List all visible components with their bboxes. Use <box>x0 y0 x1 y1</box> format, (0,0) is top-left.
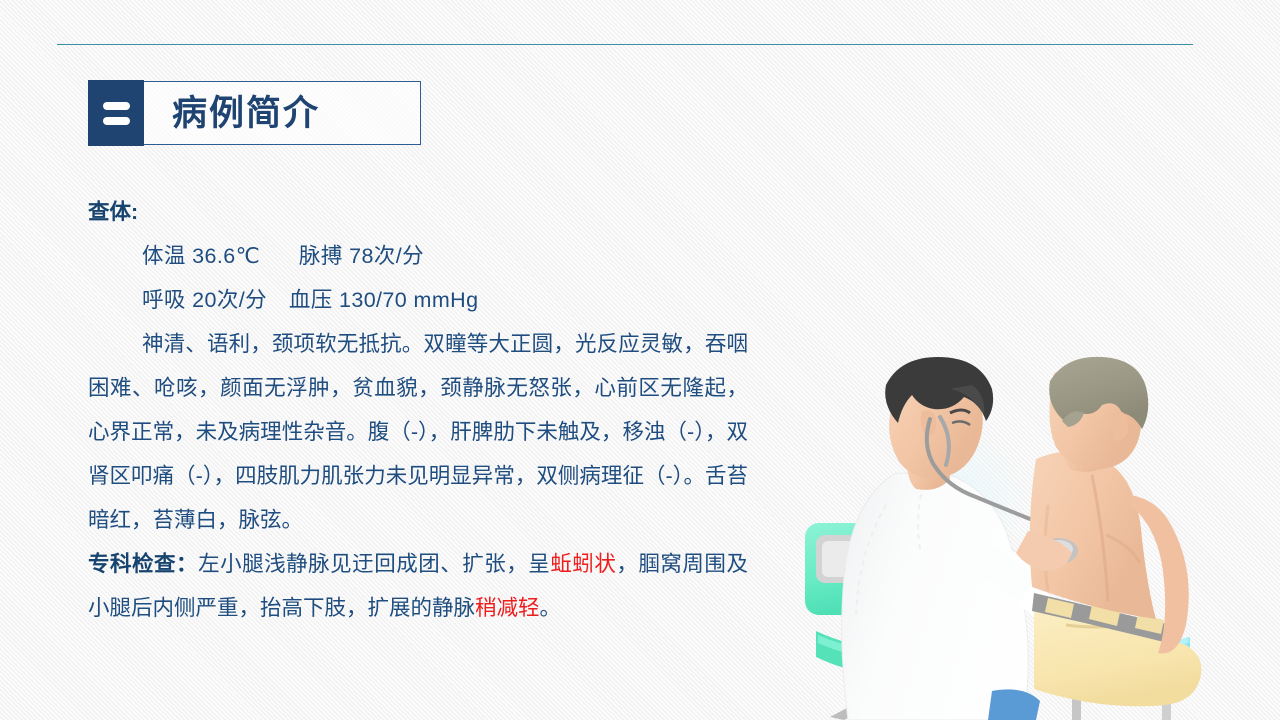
patient-figure <box>1030 357 1202 706</box>
blood-pressure-value: 血压 130/70 mmHg <box>289 288 479 312</box>
respiration-value: 呼吸 20次/分 <box>142 288 267 312</box>
specialist-exam-text-1: 左小腿浅静脉见迂回成团、扩张，呈 <box>198 552 550 576</box>
slide-title-badge: 病例简介 <box>88 80 421 146</box>
specialist-exam-paragraph: 专科检查：左小腿浅静脉见迂回成团、扩张，呈蚯蚓状，腘窝周围及小腿后内侧严重，抬高… <box>88 542 748 630</box>
section-title-box: 病例简介 <box>143 81 421 145</box>
slide-canvas: 病例简介 查体: 体温 36.6℃ 脉搏 78次/分 呼吸 20次/分 血压 1… <box>0 0 1280 720</box>
section-number-square <box>88 80 144 146</box>
specialist-exam-highlight-slightly-reduced: 稍减轻 <box>475 596 540 620</box>
section-number-glyph-icon <box>103 102 130 125</box>
doctor-auscultating-patient-illustration <box>800 355 1280 720</box>
specialist-exam-highlight-worm-shaped: 蚯蚓状 <box>550 552 616 576</box>
general-exam-paragraph: 神清、语利，颈项软无抵抗。双瞳等大正圆，光反应灵敏，吞咽困难、呛咳，颜面无浮肿，… <box>88 322 748 542</box>
page-title: 病例简介 <box>172 96 320 131</box>
vitals-line-1: 体温 36.6℃ 脉搏 78次/分 <box>88 234 748 278</box>
specialist-exam-text-3: 。 <box>540 596 562 620</box>
physical-exam-label: 查体: <box>88 190 748 234</box>
temperature-value: 体温 36.6℃ <box>142 244 260 268</box>
specialist-exam-label: 专科检查： <box>88 552 198 576</box>
vitals-line-2: 呼吸 20次/分 血压 130/70 mmHg <box>88 278 748 322</box>
doctor-trouser-leg <box>988 689 1040 720</box>
header-divider-rule <box>57 44 1193 45</box>
pulse-value: 脉搏 78次/分 <box>299 244 424 268</box>
case-summary-text-block: 查体: 体温 36.6℃ 脉搏 78次/分 呼吸 20次/分 血压 130/70… <box>88 190 748 630</box>
